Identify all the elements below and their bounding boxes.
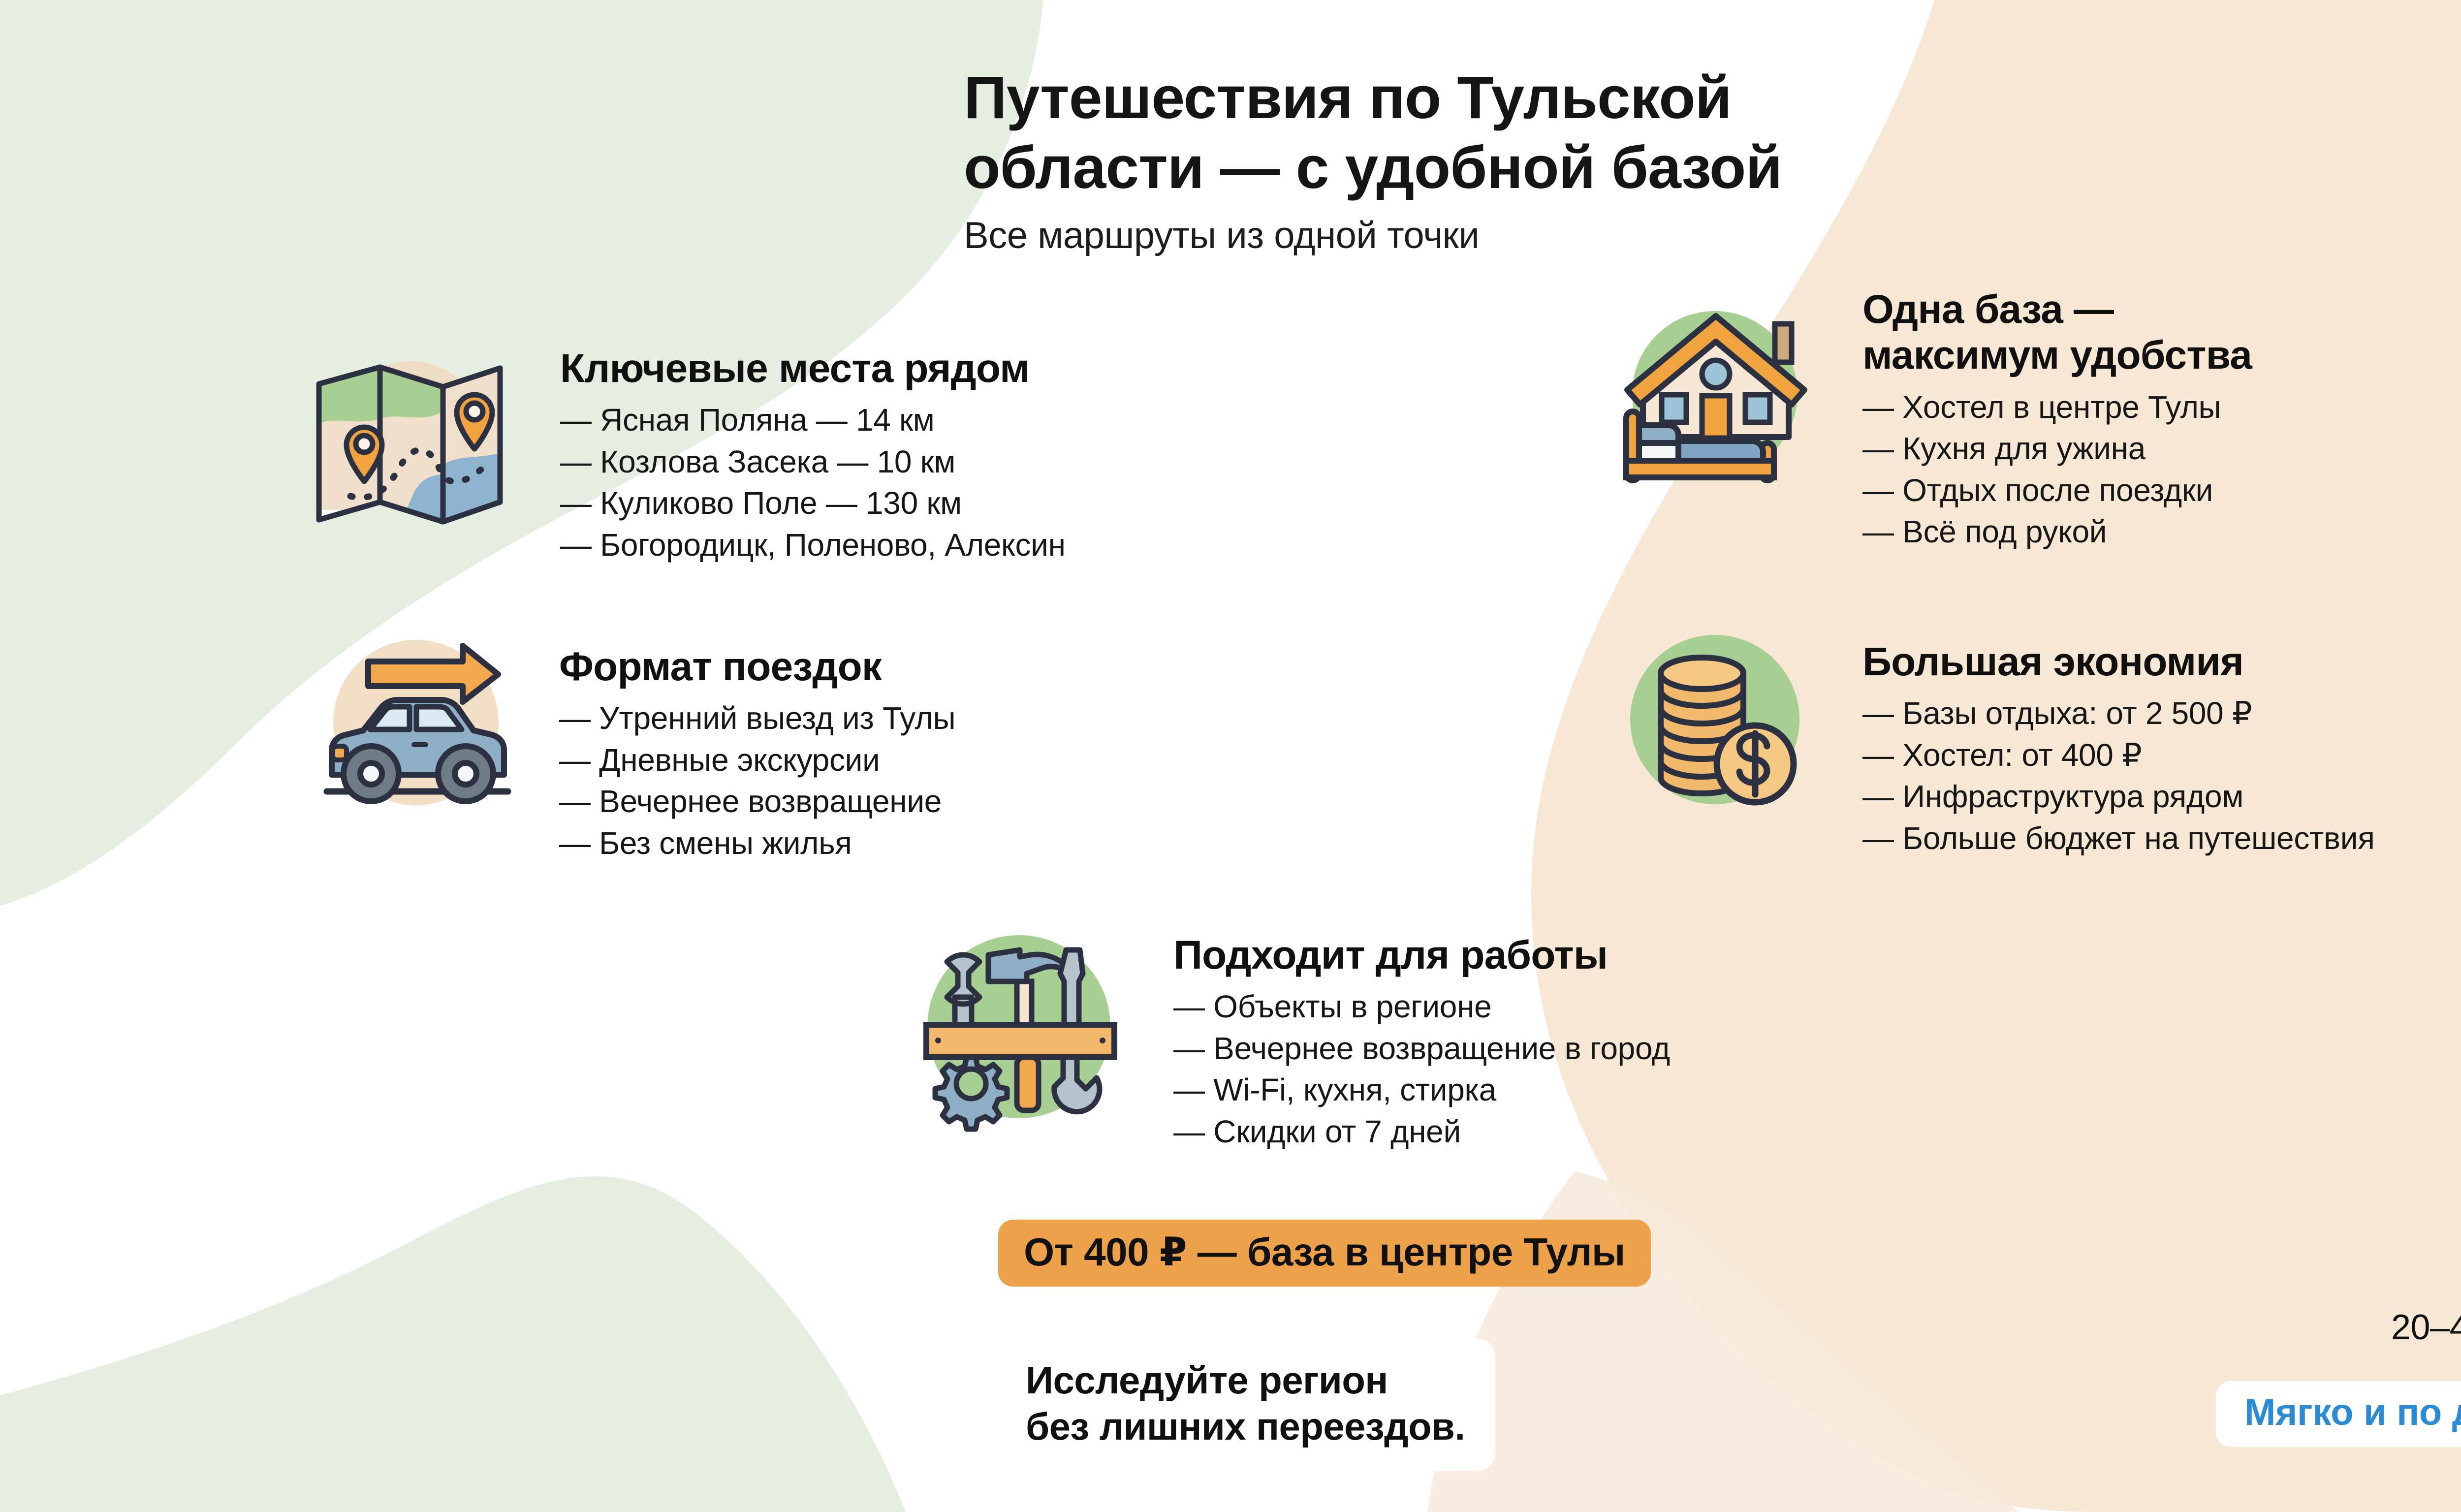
list-item: — Вечернее возвращение в город [1173,1028,1670,1069]
feature-block-places: Ключевые места рядом — Ясная Поляна — 14… [301,329,1066,566]
coin-stack-icon [1618,621,1815,818]
closing-card: Исследуйте регион без лишних переездов. [995,1339,1495,1471]
list-item: — Хостел: от 400 ₽ [1862,734,2375,776]
list-item: — Кухня для ужина [1862,428,2252,469]
block-title-economy: Большая экономия [1862,639,2375,685]
list-item: — Богородицк, Поленово, Алексин [560,524,1066,566]
block-title-places: Ключевые места рядом [560,346,1066,391]
list-item: — Вечернее возвращение [559,781,955,822]
list-item: — Инфраструктура рядом [1862,776,2375,817]
block-title-work: Подходит для работы [1173,932,1670,978]
block-text-work: Подходит для работы — Объекты в регионе … [1173,932,1670,1152]
list-item: — Без смены жилья [559,822,955,864]
folded-map-icon [301,329,513,535]
bullet-list-base: — Хостел в центре Тулы — Кухня для ужина… [1862,386,2252,553]
list-item: — Козлова Засека — 10 км [560,441,1066,482]
list-item: — Больше бюджет на путешествия [1862,818,2375,859]
list-item: — Скидки от 7 дней [1173,1111,1670,1152]
brand-badge[interactable]: Мягко и по делу [2216,1381,2461,1447]
list-item: — Утренний выезд из Тулы [559,697,955,739]
closing-card-text: Исследуйте регион без лишних переездов. [1026,1357,1465,1449]
bullet-list-economy: — Базы отдыха: от 2 500 ₽ — Хостел: от 4… [1862,693,2375,859]
page-subtitle: Все маршруты из одной точки [964,213,1899,258]
list-item: — Дневные экскурсии [559,739,955,781]
block-title-format: Формат поездок [559,644,955,690]
list-item: — Хостел в центре Тулы [1862,386,2252,428]
price-pill-label: От 400 ₽ — база в центре Тулы [1024,1230,1625,1274]
list-item: — Объекты в регионе [1173,986,1670,1027]
list-item: — Базы отдыха: от 2 500 ₽ [1862,693,2375,734]
page-title: Путешествия по Тульской области — с удоб… [964,63,1899,202]
bullet-list-work: — Объекты в регионе — Вечернее возвращен… [1173,986,1670,1152]
block-text-format: Формат поездок — Утренний выезд из Тулы … [559,644,955,864]
list-item: — Ясная Поляна — 14 км [560,399,1066,441]
list-item: — Куликово Поле — 130 км [560,482,1066,524]
list-item: — Отдых после поездки [1862,470,2252,511]
block-title-base: Одна база — максимум удобства [1862,286,2252,378]
bullet-list-format: — Утренний выезд из Тулы — Дневные экску… [559,697,955,864]
block-text-places: Ключевые места рядом — Ясная Поляна — 14… [560,346,1066,566]
house-bed-icon [1618,295,1815,492]
block-text-economy: Большая экономия — Базы отдыха: от 2 500… [1862,639,2375,859]
feature-block-work: Подходит для работы — Объекты в регионе … [910,917,1670,1152]
block-text-base: Одна база — максимум удобства — Хостел в… [1862,286,2252,553]
feature-block-economy: Большая экономия — Базы отдыха: от 2 500… [1618,621,2375,859]
tools-icon [910,917,1126,1134]
price-pill[interactable]: От 400 ₽ — база в центре Тулы [998,1220,1651,1287]
header: Путешествия по Тульской области — с удоб… [964,63,1899,258]
feature-block-base: Одна база — максимум удобства — Хостел в… [1618,295,2252,553]
brand-badge-label: Мягко и по делу [2244,1391,2461,1433]
bullet-list-places: — Ясная Поляна — 14 км — Козлова Засека … [560,399,1066,566]
list-item: — Wi-Fi, кухня, стирка [1173,1069,1670,1110]
car-arrow-icon [315,626,512,823]
size-note: 20–40 px [2391,1307,2461,1348]
feature-block-format: Формат поездок — Утренний выезд из Тулы … [315,626,955,864]
list-item: — Всё под рукой [1862,511,2252,552]
